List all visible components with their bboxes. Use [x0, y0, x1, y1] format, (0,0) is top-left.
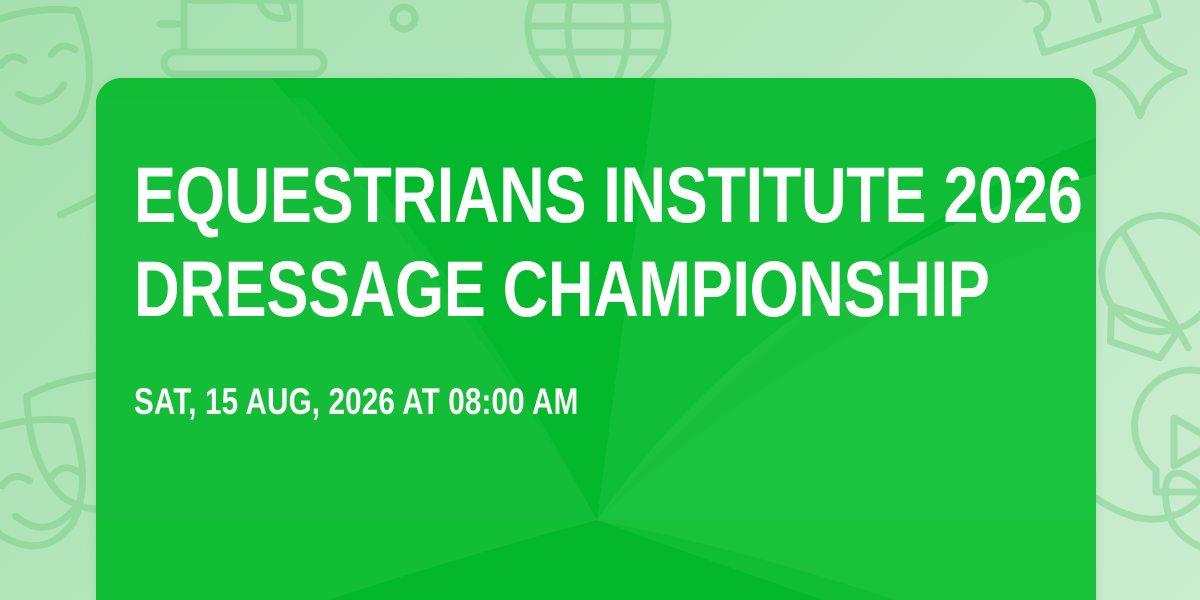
confetti-dot-icon	[358, 0, 415, 29]
podium-icon	[160, 0, 324, 74]
event-card: EQUESTRIANS INSTITUTE 2026 DRESSAGE CHAM…	[96, 78, 1096, 600]
event-banner: EQUESTRIANS INSTITUTE 2026 DRESSAGE CHAM…	[0, 0, 1200, 600]
sparkle-star-icon	[1096, 28, 1184, 116]
event-date: SAT, 15 AUG, 2026 AT 08:00 AM	[134, 380, 854, 424]
event-title-line-1: EQUESTRIANS INSTITUTE 2026	[134, 148, 854, 242]
balloon-icon	[1080, 200, 1200, 367]
event-card-content: EQUESTRIANS INSTITUTE 2026 DRESSAGE CHAM…	[134, 148, 1034, 424]
swirl-icon	[1082, 473, 1200, 554]
event-title-line-2: DRESSAGE CHAMPIONSHIP	[134, 242, 854, 336]
theater-masks-icon	[0, 1, 105, 154]
